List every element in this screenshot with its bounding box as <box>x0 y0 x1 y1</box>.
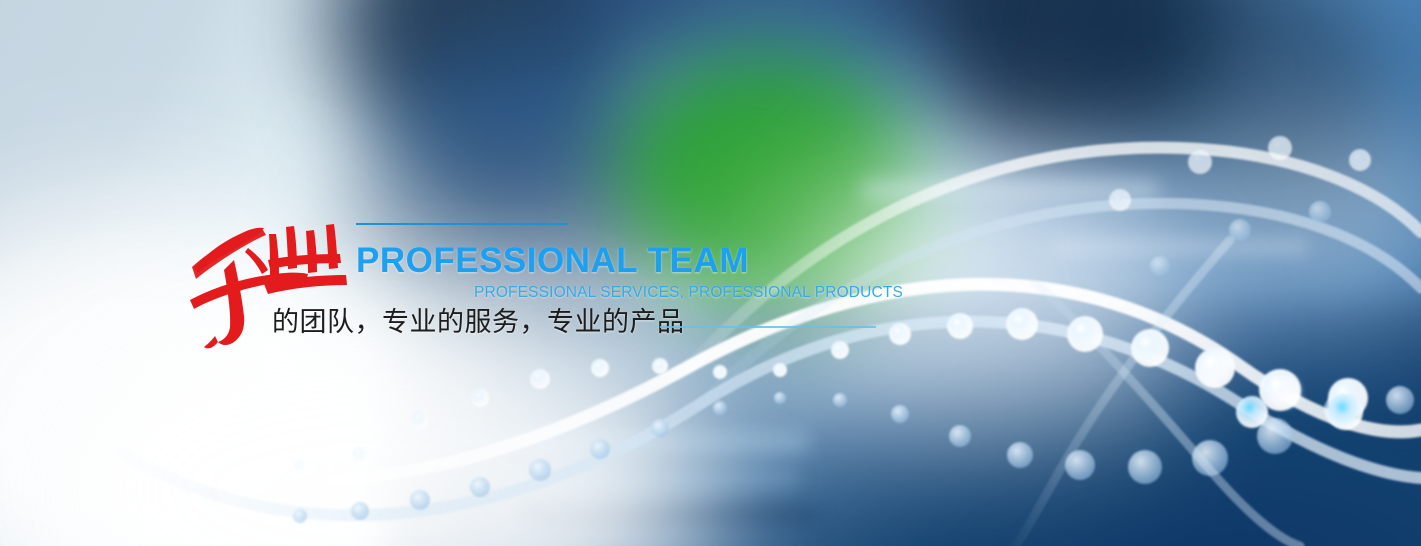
decor-rule-top <box>356 223 568 225</box>
hero-banner: PROFESSIONAL TEAM PROFESSIONAL SERVICES,… <box>0 0 1421 546</box>
banner-title-en: PROFESSIONAL TEAM <box>356 243 749 278</box>
decor-rule-bottom <box>660 326 876 328</box>
banner-subtitle-en: PROFESSIONAL SERVICES, PROFESSIONAL PROD… <box>474 285 903 301</box>
banner-title-cn: 的团队，专业的服务，专业的产品 <box>272 306 685 338</box>
banner-copy: PROFESSIONAL TEAM PROFESSIONAL SERVICES,… <box>0 0 1421 546</box>
